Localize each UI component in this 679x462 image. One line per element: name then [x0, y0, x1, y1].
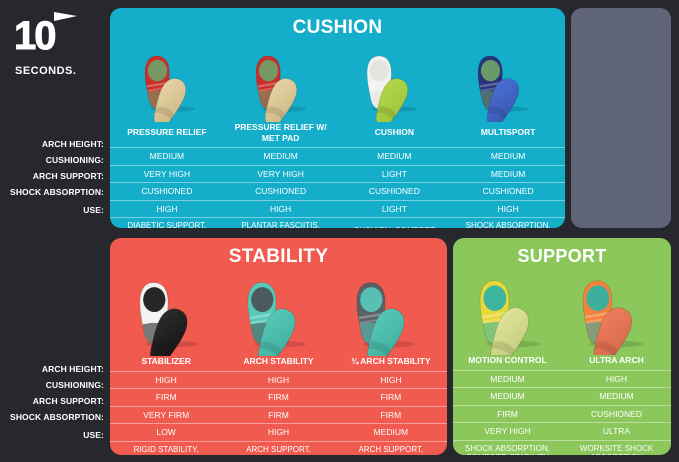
shock-absorption-cell: VERY HIGH — [453, 423, 562, 441]
shock-absorption-cell: LIGHT — [338, 200, 452, 218]
use-cell: RIGID STABILITY,ARCH SUPPORT — [110, 441, 222, 455]
brand-logo: 10 SECONDS. — [12, 16, 96, 86]
insole-illustration — [242, 272, 314, 356]
product-name-cell: PRESSURE RELIEF — [110, 122, 224, 148]
product-name-cell: STABILIZER — [110, 356, 222, 371]
shock-absorption-row: LOWHIGHMEDIUM — [110, 424, 447, 442]
use-cell: DIABETIC SUPPORT,CUSTOM COMFORT — [110, 218, 224, 229]
row-label-use: USE: — [0, 200, 110, 220]
arch-height-cell: HIGH — [562, 370, 671, 388]
insole-illustration — [474, 271, 548, 355]
panel-support: SUPPORT — [453, 238, 671, 455]
product-name-row: STABILIZERARCH STABILITY¾ ARCH STABILITY — [110, 356, 447, 371]
row-label-arch-support: ARCH SUPPORT: — [0, 168, 110, 184]
arch-height-row: MEDIUMHIGH — [453, 370, 671, 388]
product-name-cell: MULTISPORT — [451, 122, 565, 148]
product-name-cell: ULTRA ARCH — [562, 355, 671, 370]
arch-support-cell: VERY FIRM — [110, 406, 222, 424]
insole-illustration — [362, 44, 424, 122]
panel-stability: STABILITY — [110, 238, 447, 455]
arch-height-cell: MEDIUM — [110, 148, 224, 166]
product-image-multisport[interactable] — [448, 43, 559, 122]
insole-illustration — [251, 44, 313, 122]
row-label-cushioning: CUSHIONING: — [0, 377, 110, 393]
cushioning-row: MEDIUMMEDIUM — [453, 388, 671, 406]
row-label-arch-support: ARCH SUPPORT: — [0, 393, 110, 409]
cushioning-cell: VERY HIGH — [224, 165, 338, 183]
arch-support-cell: FIRM — [453, 405, 562, 423]
row-labels-top: ARCH HEIGHT: CUSHIONING: ARCH SUPPORT: S… — [0, 137, 110, 220]
insole-comparison-chart: 10 SECONDS. ARCH HEIGHT: CUSHIONING: ARC… — [0, 0, 679, 462]
panel-cushion: CUSHION — [110, 8, 565, 228]
logo-mark: 10 — [12, 16, 96, 64]
cushioning-row: FIRMFIRMFIRM — [110, 389, 447, 407]
arch-support-cell: CUSHIONED — [338, 183, 452, 201]
arch-height-cell: MEDIUM — [453, 370, 562, 388]
use-cell: CUSHION, COMFORT — [338, 218, 452, 229]
use-cell: WORKSITE SHOCKABSORPTION — [562, 440, 671, 455]
shock-absorption-cell: MEDIUM — [335, 424, 447, 442]
insole-illustration — [351, 272, 423, 356]
product-image-arch-stability[interactable] — [333, 272, 441, 356]
shock-absorption-cell: HIGH — [224, 200, 338, 218]
product-name-row: PRESSURE RELIEFPRESSURE RELIEF W/ MET PA… — [110, 122, 565, 148]
row-label-arch-height: ARCH HEIGHT: — [0, 362, 110, 377]
product-name-cell: ARCH STABILITY — [222, 356, 334, 371]
arch-support-cell: CUSHIONED — [224, 183, 338, 201]
arch-height-cell: HIGH — [110, 371, 222, 389]
panel-title-cushion: CUSHION — [110, 8, 565, 39]
cushioning-cell: FIRM — [335, 389, 447, 407]
product-image-pressure-relief-w-met-pad[interactable] — [227, 43, 338, 122]
product-name-cell: MOTION CONTROL — [453, 355, 562, 370]
cushioning-cell: VERY HIGH — [110, 165, 224, 183]
spec-table-support: MOTION CONTROLULTRA ARCHMEDIUMHIGHMEDIUM… — [453, 355, 671, 455]
use-cell: ARCH SUPPORT,SHOCK ABSORPTION — [222, 441, 334, 455]
product-image-cushion[interactable] — [338, 43, 449, 122]
shock-absorption-cell: HIGH — [451, 200, 565, 218]
arch-support-row: VERY FIRMFIRMFIRM — [110, 406, 447, 424]
insole-illustration — [140, 44, 202, 122]
spec-table-stability: STABILIZERARCH STABILITY¾ ARCH STABILITY… — [110, 356, 447, 455]
product-image-ultra-arch[interactable] — [562, 271, 665, 355]
shock-absorption-row: VERY HIGHULTRA — [453, 423, 671, 441]
row-label-shock-absorption: SHOCK ABSORPTION: — [0, 184, 110, 200]
use-row: RIGID STABILITY,ARCH SUPPORTARCH SUPPORT… — [110, 441, 447, 455]
arch-height-row: HIGHHIGHHIGH — [110, 371, 447, 389]
product-image-row — [453, 267, 671, 355]
arch-support-row: FIRMCUSHIONED — [453, 405, 671, 423]
product-image-stabilizer[interactable] — [116, 272, 224, 356]
arch-height-cell: MEDIUM — [224, 148, 338, 166]
product-image-pressure-relief[interactable] — [116, 43, 227, 122]
panel-flat-foot — [571, 8, 671, 228]
shock-absorption-cell: LOW — [110, 424, 222, 442]
use-row: DIABETIC SUPPORT,CUSTOM COMFORTPLANTAR F… — [110, 218, 565, 229]
shock-absorption-row: HIGHHIGHLIGHTHIGH — [110, 200, 565, 218]
arch-support-cell: FIRM — [222, 406, 334, 424]
cushioning-cell: LIGHT — [338, 165, 452, 183]
shock-absorption-cell: HIGH — [222, 424, 334, 442]
product-image-row — [110, 268, 447, 356]
use-cell: PLANTAR FASCIITIS,MORTON'S NEUROMA — [224, 218, 338, 229]
arch-support-cell: CUSHIONED — [451, 183, 565, 201]
arch-height-cell: MEDIUM — [451, 148, 565, 166]
use-row: SHOCK ABSORPTION,COMFORT, STABILITYWORKS… — [453, 440, 671, 455]
use-cell: ARCH SUPPORT,SHOCK ABSORPTION — [335, 441, 447, 455]
cushioning-row: VERY HIGHVERY HIGHLIGHTMEDIUM — [110, 165, 565, 183]
insole-illustration — [473, 44, 535, 122]
product-name-cell: CUSHION — [338, 122, 452, 148]
arch-height-row: MEDIUMMEDIUMMEDIUMMEDIUM — [110, 148, 565, 166]
row-label-cushioning: CUSHIONING: — [0, 152, 110, 168]
product-image-row — [110, 39, 565, 122]
cushioning-cell: MEDIUM — [562, 388, 671, 406]
arch-height-cell: MEDIUM — [338, 148, 452, 166]
insole-illustration — [577, 271, 651, 355]
arch-support-cell: CUSHIONED — [110, 183, 224, 201]
arch-support-cell: FIRM — [335, 406, 447, 424]
cushioning-cell: MEDIUM — [453, 388, 562, 406]
cushioning-cell: MEDIUM — [451, 165, 565, 183]
logo-wordmark: SECONDS. — [12, 65, 96, 77]
arch-height-cell: HIGH — [222, 371, 334, 389]
arch-height-cell: HIGH — [335, 371, 447, 389]
product-image-arch-stability[interactable] — [224, 272, 332, 356]
spec-table-cushion: PRESSURE RELIEFPRESSURE RELIEF W/ MET PA… — [110, 122, 565, 228]
row-labels-bottom: ARCH HEIGHT: CUSHIONING: ARCH SUPPORT: S… — [0, 362, 110, 445]
product-image-motion-control[interactable] — [459, 271, 562, 355]
insole-illustration — [134, 272, 206, 356]
row-label-arch-height: ARCH HEIGHT: — [0, 137, 110, 152]
use-cell: SHOCK ABSORPTION,STABILITY, COMFORT — [451, 218, 565, 229]
product-name-cell: ¾ ARCH STABILITY — [335, 356, 447, 371]
arch-support-cell: CUSHIONED — [562, 405, 671, 423]
use-cell: SHOCK ABSORPTION,COMFORT, STABILITY — [453, 440, 562, 455]
pennant-flag-icon — [52, 11, 78, 26]
row-label-shock-absorption: SHOCK ABSORPTION: — [0, 409, 110, 425]
row-label-use: USE: — [0, 425, 110, 445]
shock-absorption-cell: ULTRA — [562, 423, 671, 441]
cushioning-cell: FIRM — [110, 389, 222, 407]
product-name-cell: PRESSURE RELIEF W/ MET PAD — [224, 122, 338, 148]
panel-title-support: SUPPORT — [453, 238, 671, 267]
cushioning-cell: FIRM — [222, 389, 334, 407]
arch-support-row: CUSHIONEDCUSHIONEDCUSHIONEDCUSHIONED — [110, 183, 565, 201]
product-name-row: MOTION CONTROLULTRA ARCH — [453, 355, 671, 370]
shock-absorption-cell: HIGH — [110, 200, 224, 218]
panel-title-stability: STABILITY — [110, 238, 447, 268]
